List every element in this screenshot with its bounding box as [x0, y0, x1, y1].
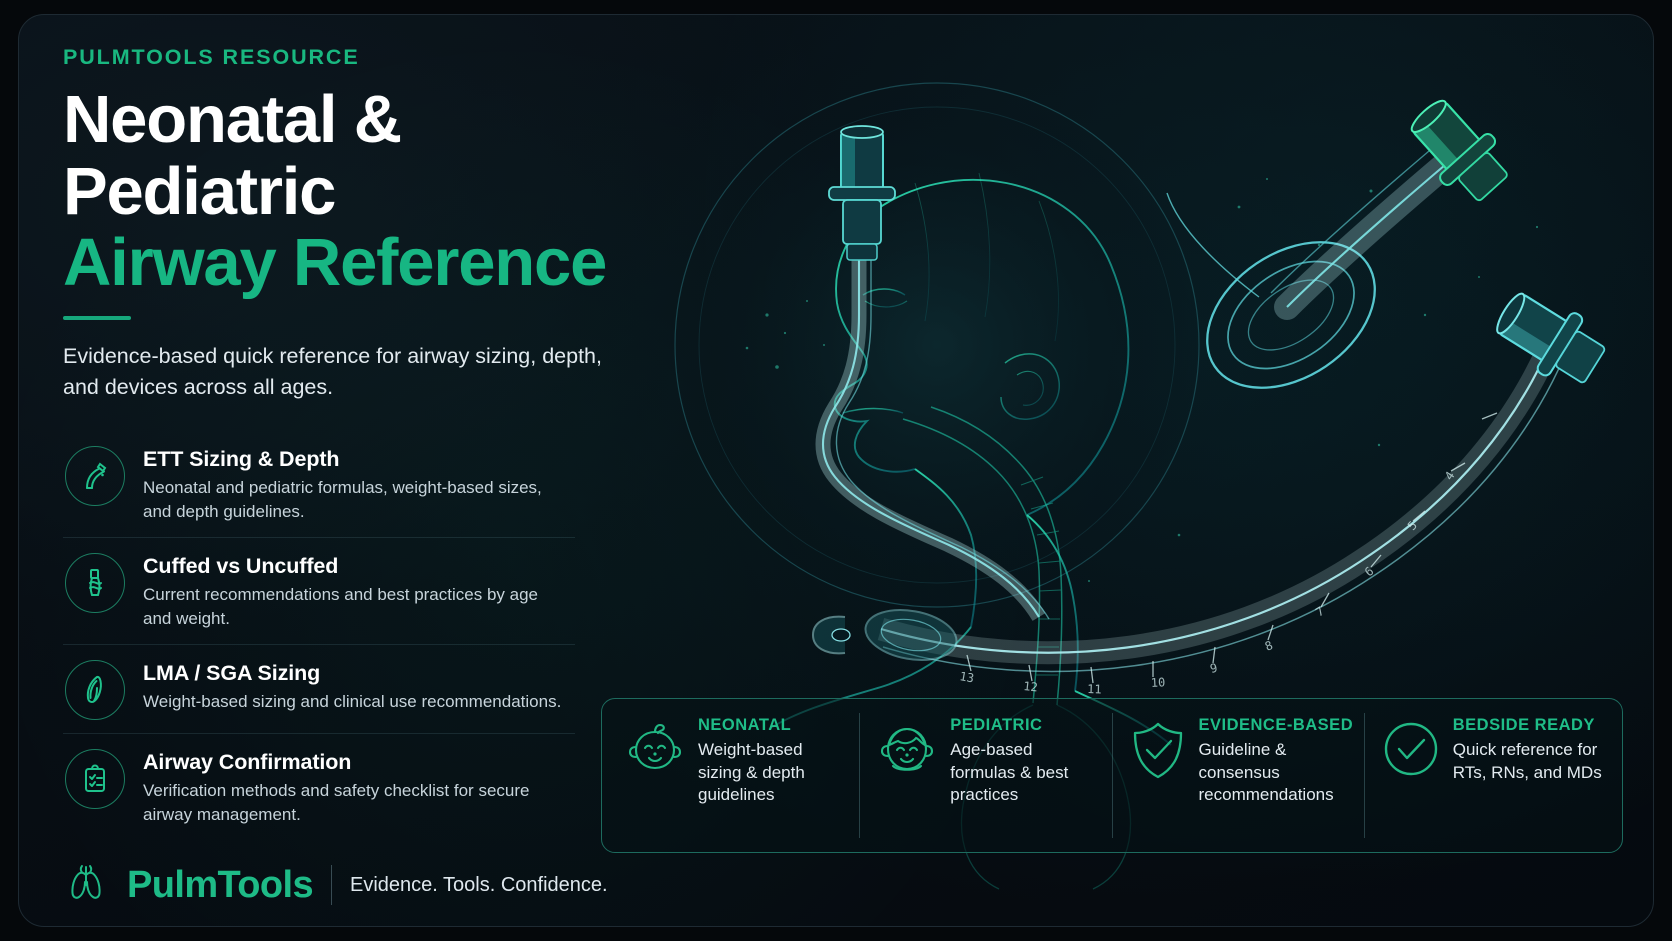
feature-desc: Verification methods and safety checklis… — [143, 779, 563, 827]
svg-text:8: 8 — [1263, 638, 1275, 654]
badge-text: NEONATAL Weight-based sizing & depth gui… — [698, 715, 849, 807]
svg-text:10: 10 — [1150, 675, 1165, 690]
feature-text: ETT Sizing & Depth Neonatal and pediatri… — [143, 444, 563, 524]
brand-footer: PulmTools Evidence. Tools. Confidence. — [63, 863, 619, 908]
badge-panel: NEONATAL Weight-based sizing & depth gui… — [601, 698, 1623, 853]
feature-item-ett-sizing[interactable]: ETT Sizing & Depth Neonatal and pediatri… — [63, 431, 575, 538]
lungs-icon — [63, 863, 109, 908]
baby-face-icon — [624, 719, 686, 786]
feature-text: Airway Confirmation Verification methods… — [143, 747, 563, 827]
shield-check-icon — [1129, 719, 1187, 786]
cuffed-tube-icon — [65, 553, 125, 613]
eyebrow-label: PULMTOOLS RESOURCE — [63, 45, 619, 70]
title-underline-rule — [63, 316, 131, 320]
clipboard-checklist-icon — [65, 749, 125, 809]
badge-evidence-based[interactable]: EVIDENCE-BASED Guideline & consensus rec… — [1113, 713, 1365, 838]
feature-title: ETT Sizing & Depth — [143, 447, 563, 472]
feature-desc: Current recommendations and best practic… — [143, 583, 563, 631]
badge-neonatal[interactable]: NEONATAL Weight-based sizing & depth gui… — [608, 713, 860, 838]
svg-text:7: 7 — [1313, 604, 1327, 620]
badge-desc: Quick reference for RTs, RNs, and MDs — [1453, 739, 1606, 784]
feature-title: Cuffed vs Uncuffed — [143, 554, 563, 579]
feature-text: LMA / SGA Sizing Weight-based sizing and… — [143, 658, 561, 714]
page-title: Neonatal & Pediatric Airway Reference — [63, 84, 619, 299]
badge-text: BEDSIDE READY Quick reference for RTs, R… — [1453, 715, 1606, 784]
laryngeal-mask-icon — [65, 660, 125, 720]
poster-frame: 13 12 11 10 9 8 7 6 5 4 PULMTOOLS R — [18, 14, 1654, 927]
badge-label: BEDSIDE READY — [1453, 716, 1595, 734]
svg-text:6: 6 — [1362, 564, 1377, 579]
feature-item-lma-sizing[interactable]: LMA / SGA Sizing Weight-based sizing and… — [63, 645, 575, 734]
circle-check-icon — [1381, 719, 1441, 784]
brand-divider — [331, 865, 332, 905]
badge-desc: Guideline & consensus recommendations — [1199, 739, 1354, 807]
endotracheal-tube-icon — [65, 446, 125, 506]
feature-desc: Neonatal and pediatric formulas, weight-… — [143, 476, 563, 524]
badge-label: EVIDENCE-BASED — [1199, 716, 1354, 734]
feature-desc: Weight-based sizing and clinical use rec… — [143, 690, 561, 714]
feature-title: Airway Confirmation — [143, 750, 563, 775]
feature-item-cuffed-vs-uncuffed[interactable]: Cuffed vs Uncuffed Current recommendatio… — [63, 538, 575, 645]
brand-name: PulmTools — [127, 864, 313, 907]
svg-text:9: 9 — [1209, 661, 1219, 676]
badge-label: PEDIATRIC — [950, 716, 1042, 734]
feature-text: Cuffed vs Uncuffed Current recommendatio… — [143, 551, 563, 631]
brand-tagline: Evidence. Tools. Confidence. — [350, 874, 608, 897]
feature-list: ETT Sizing & Depth Neonatal and pediatri… — [63, 431, 575, 841]
svg-text:13: 13 — [958, 669, 975, 685]
feature-title: LMA / SGA Sizing — [143, 661, 561, 686]
badge-desc: Age-based formulas & best practices — [950, 739, 1101, 807]
left-column: PULMTOOLS RESOURCE Neonatal & Pediatric … — [63, 45, 619, 908]
badge-bedside-ready[interactable]: BEDSIDE READY Quick reference for RTs, R… — [1365, 713, 1616, 838]
feature-item-airway-confirmation[interactable]: Airway Confirmation Verification methods… — [63, 734, 575, 840]
badge-pediatric[interactable]: PEDIATRIC Age-based formulas & best prac… — [860, 713, 1112, 838]
badge-label: NEONATAL — [698, 716, 791, 734]
child-face-icon — [876, 719, 938, 786]
title-line-1: Neonatal & Pediatric — [63, 82, 401, 229]
svg-text:11: 11 — [1087, 682, 1102, 696]
badge-text: EVIDENCE-BASED Guideline & consensus rec… — [1199, 715, 1354, 807]
subtitle: Evidence-based quick reference for airwa… — [63, 341, 608, 404]
svg-text:12: 12 — [1023, 679, 1039, 694]
badge-desc: Weight-based sizing & depth guidelines — [698, 739, 849, 807]
badge-text: PEDIATRIC Age-based formulas & best prac… — [950, 715, 1101, 807]
title-line-2: Airway Reference — [63, 227, 619, 299]
